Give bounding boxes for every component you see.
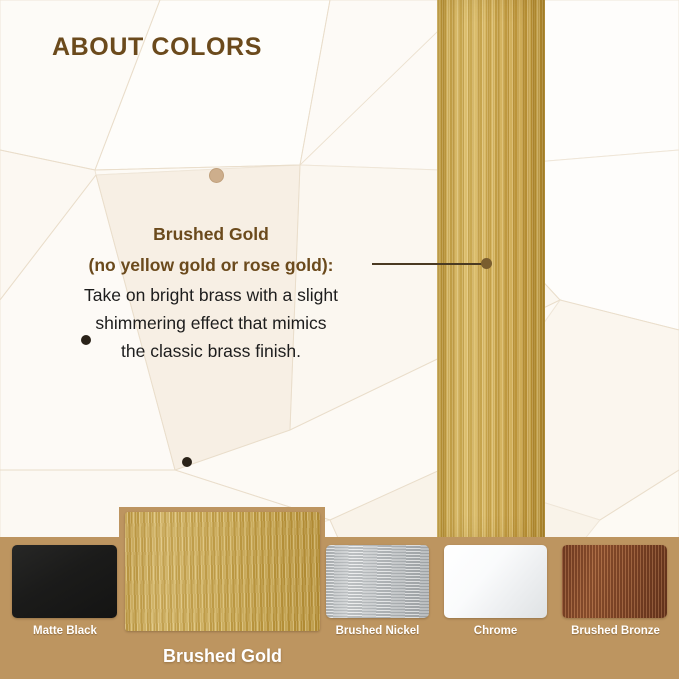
callout-bold-line-1: Brushed Gold (41, 219, 381, 250)
brushed-gold-column (437, 0, 545, 538)
callout-bold-line-2: (no yellow gold or rose gold): (41, 250, 381, 281)
page-title: ABOUT COLORS (52, 33, 262, 62)
about-colors-infographic: ABOUT COLORS Brushed Gold (no yellow gol… (0, 0, 679, 679)
swatch-label-brushed-bronze: Brushed Bronze (548, 625, 679, 637)
swatch-label-brushed-gold: Brushed Gold (120, 646, 325, 667)
swatch-label-matte-black: Matte Black (0, 625, 130, 637)
swatch-label-chrome: Chrome (438, 625, 553, 637)
swatch-label-brushed-nickel: Brushed Nickel (310, 625, 445, 637)
callout-leader-dot (481, 258, 492, 269)
swatch-brushed-gold[interactable] (125, 512, 320, 631)
swatch-chrome[interactable] (444, 545, 547, 618)
callout-leader-line (372, 263, 488, 265)
swatch-matte-black[interactable] (12, 545, 117, 618)
swatch-brushed-nickel[interactable] (326, 545, 429, 618)
callout-body-line-2: shimmering effect that mimics (41, 309, 381, 337)
swatch-brushed-bronze[interactable] (562, 545, 667, 618)
brushed-gold-callout: Brushed Gold (no yellow gold or rose gol… (41, 219, 381, 365)
callout-body-line-1: Take on bright brass with a slight (41, 281, 381, 309)
tan-dot (209, 168, 224, 183)
dark-dot-lower (182, 457, 192, 467)
callout-body-line-3: the classic brass finish. (41, 337, 381, 365)
